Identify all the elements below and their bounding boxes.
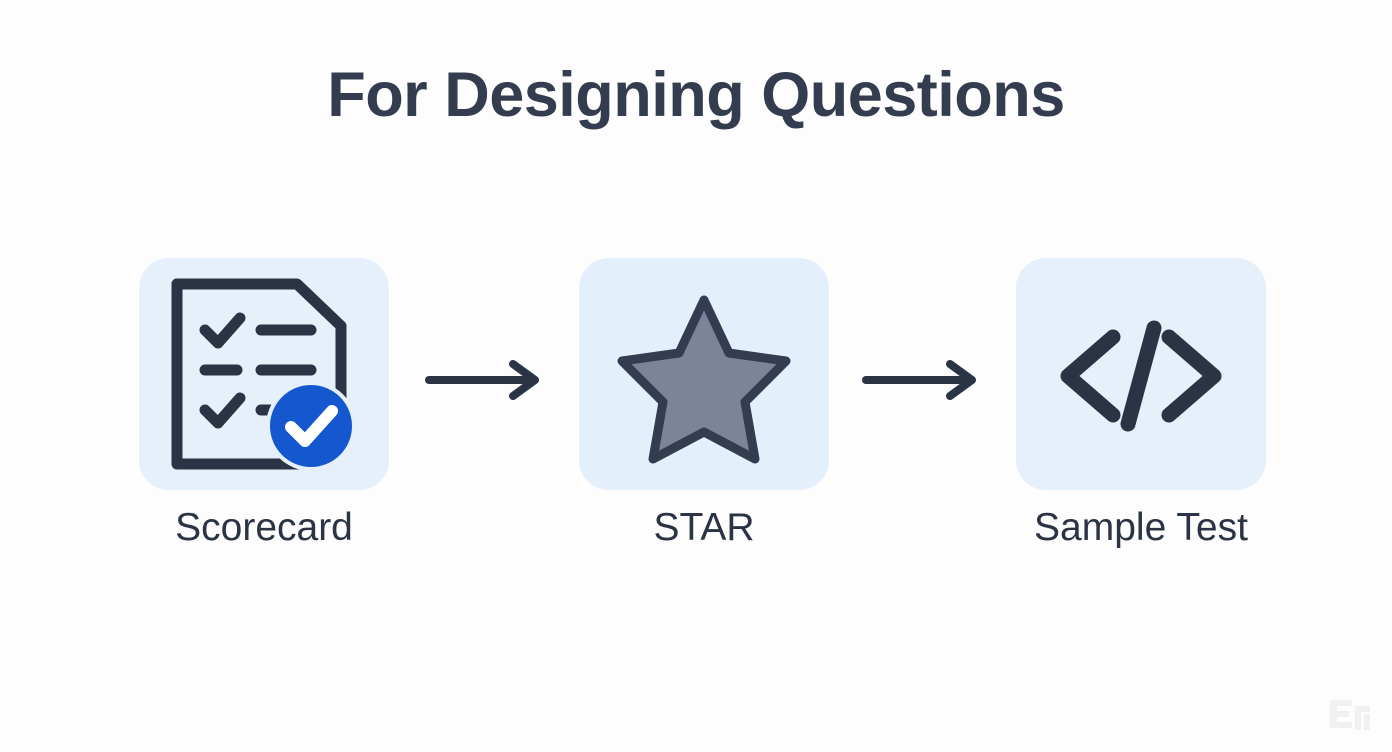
flow-connector-2	[862, 358, 982, 402]
brand-watermark-logo	[1322, 690, 1378, 738]
flow-connector-1	[425, 358, 545, 402]
flow-step-label-scorecard: Scorecard	[99, 506, 429, 550]
flow-step-label-star: STAR	[539, 506, 869, 550]
flow-step-star[interactable]: STAR	[579, 258, 829, 490]
brand-watermark	[1322, 690, 1378, 738]
checklist-document-with-verified-badge-icon	[139, 258, 389, 490]
slide-canvas: For Designing Questions	[0, 0, 1392, 752]
arrow-right-icon	[862, 358, 982, 402]
arrow-right-icon	[425, 358, 545, 402]
icon-card-sample-test	[1016, 258, 1266, 490]
process-flow: Scorecard STAR	[0, 258, 1392, 578]
flow-step-scorecard[interactable]: Scorecard	[139, 258, 389, 490]
flow-step-label-sample-test: Sample Test	[976, 506, 1306, 550]
flow-step-sample-test[interactable]: Sample Test	[1016, 258, 1266, 490]
star-icon	[579, 258, 829, 490]
code-brackets-icon	[1016, 258, 1266, 490]
page-title: For Designing Questions	[0, 62, 1392, 128]
icon-card-scorecard	[139, 258, 389, 490]
icon-card-star	[579, 258, 829, 490]
